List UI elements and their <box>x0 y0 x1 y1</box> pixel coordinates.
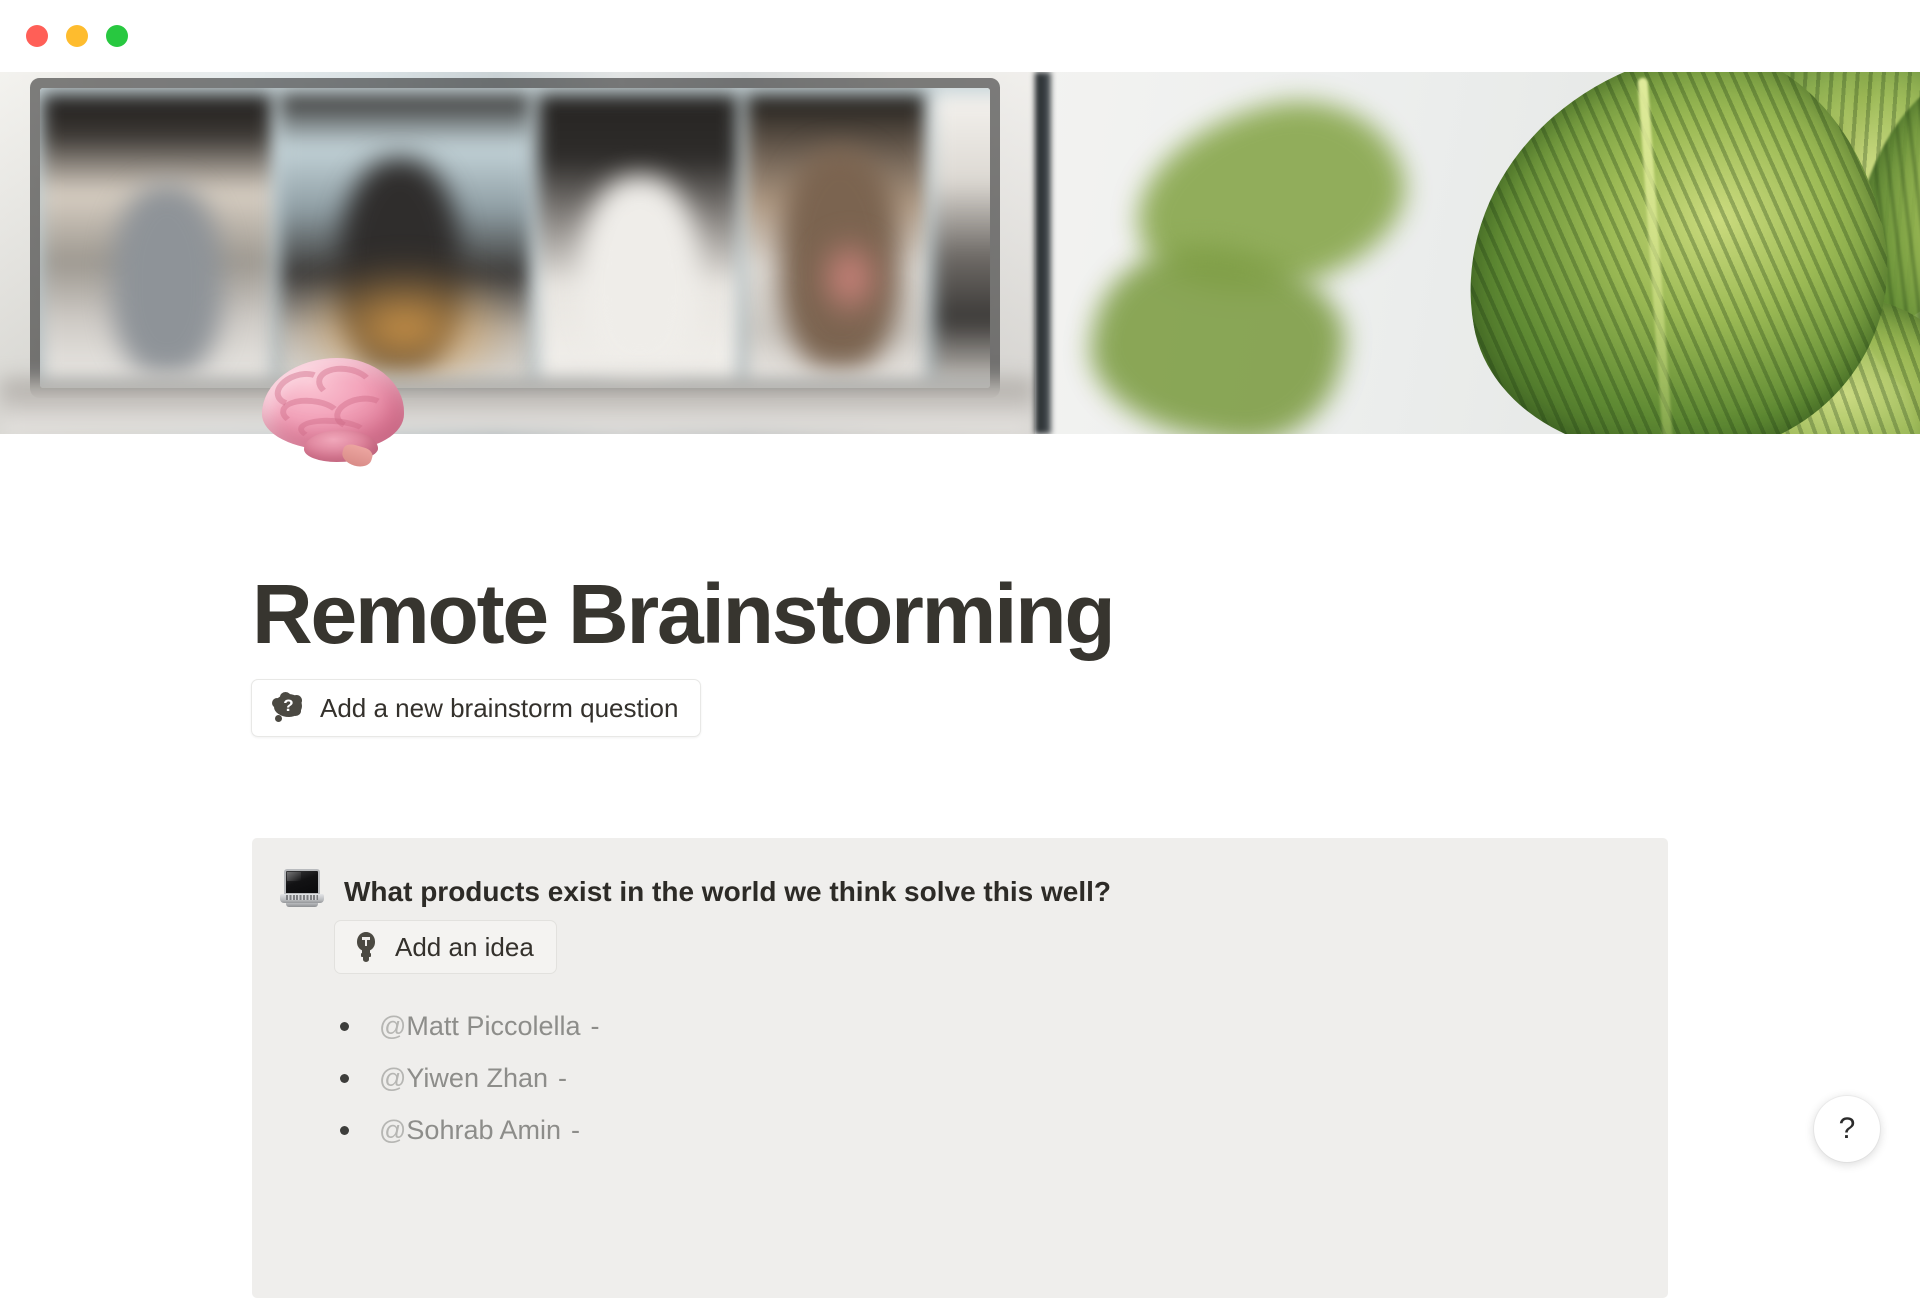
minimize-button[interactable] <box>66 25 88 47</box>
window-titlebar <box>0 0 1920 72</box>
mention-name[interactable]: Yiwen Zhan <box>406 1063 548 1094</box>
traffic-lights <box>26 25 128 47</box>
idea-dash: - <box>558 1063 567 1094</box>
video-participant <box>580 176 700 376</box>
idea-list: @ Matt Piccolella - @ Yiwen Zhan - @ Soh… <box>340 1000 600 1156</box>
desk-surface <box>0 380 1035 434</box>
idea-dash: - <box>571 1115 580 1146</box>
question-header: What products exist in the world we thin… <box>280 867 1111 909</box>
brain-icon <box>258 358 408 466</box>
mention-name[interactable]: Sohrab Amin <box>406 1115 561 1146</box>
mention-at-symbol: @ <box>379 1063 406 1094</box>
video-participant <box>112 184 222 374</box>
video-call-background <box>0 72 1035 434</box>
help-question-mark-icon: ? <box>1839 1114 1856 1144</box>
bullet-icon <box>340 1022 349 1031</box>
idea-dash: - <box>591 1011 600 1042</box>
monitor-screen <box>40 88 990 388</box>
add-brainstorm-question-button[interactable]: ? Add a new brainstorm question <box>251 679 701 737</box>
add-idea-button[interactable]: Add an idea <box>334 920 557 974</box>
plant-background <box>1035 72 1920 434</box>
add-brainstorm-question-label: Add a new brainstorm question <box>320 693 678 724</box>
bullet-icon <box>340 1074 349 1083</box>
monitor-frame-edge <box>1035 72 1051 434</box>
video-tile <box>934 94 990 384</box>
pink-light-blur <box>815 233 885 323</box>
bullet-icon <box>340 1126 349 1135</box>
list-item[interactable]: @ Yiwen Zhan - <box>340 1052 600 1104</box>
add-idea-label: Add an idea <box>395 932 534 963</box>
page-title[interactable]: Remote Brainstorming <box>252 572 1113 656</box>
leaf-vein <box>1637 78 1673 434</box>
mention-at-symbol: @ <box>379 1011 406 1042</box>
question-title[interactable]: What products exist in the world we thin… <box>344 867 1111 909</box>
help-button[interactable]: ? <box>1814 1096 1880 1162</box>
maximize-button[interactable] <box>106 25 128 47</box>
mention-name[interactable]: Matt Piccolella <box>406 1011 580 1042</box>
lightbulb-icon <box>353 932 379 962</box>
list-item[interactable]: @ Sohrab Amin - <box>340 1104 600 1156</box>
question-card: What products exist in the world we thin… <box>252 838 1668 1298</box>
close-button[interactable] <box>26 25 48 47</box>
list-item[interactable]: @ Matt Piccolella - <box>340 1000 600 1052</box>
mention-at-symbol: @ <box>379 1115 406 1146</box>
page-emoji-brain[interactable] <box>256 358 410 468</box>
thought-bubble-question-icon: ? <box>272 693 304 723</box>
laptop-icon <box>280 869 324 907</box>
